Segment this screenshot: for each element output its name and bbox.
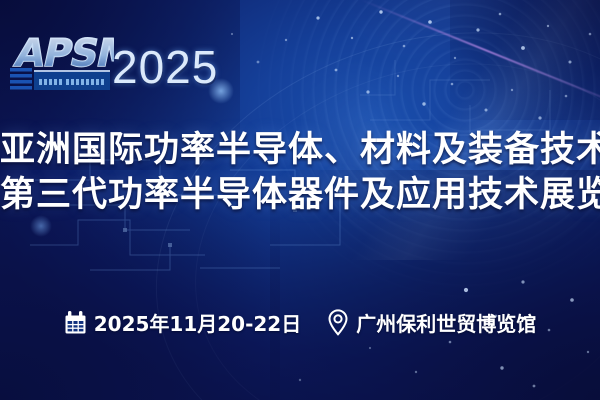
map-pin-icon [327,309,349,336]
event-location-text: 广州保利世贸博览馆 [356,308,536,337]
layered-chip-icon: APSME APSME [8,24,114,94]
headline-line-1: 亚洲国际功率半导体、材料及装备技术展览会 [0,128,600,173]
event-logo: APSME APSME 2025 [8,24,188,96]
headline-line-2: 第三代功率半导体器件及应用技术展览会 [0,173,600,218]
event-date-text: 2025年11月20-22日 [94,308,301,337]
headline-block: 亚洲国际功率半导体、材料及装备技术展览会 第三代功率半导体器件及应用技术展览会 [0,128,600,218]
calendar-icon [64,310,87,335]
event-location-item: 广州保利世贸博览馆 [327,308,536,337]
logo-year: 2025 [112,44,218,90]
event-info-row: 2025年11月20-22日 广州保利世贸博览馆 [0,308,600,337]
event-date-item: 2025年11月20-22日 [64,308,301,337]
event-banner: APSME APSME 2025 亚洲国际功率 [0,0,600,400]
